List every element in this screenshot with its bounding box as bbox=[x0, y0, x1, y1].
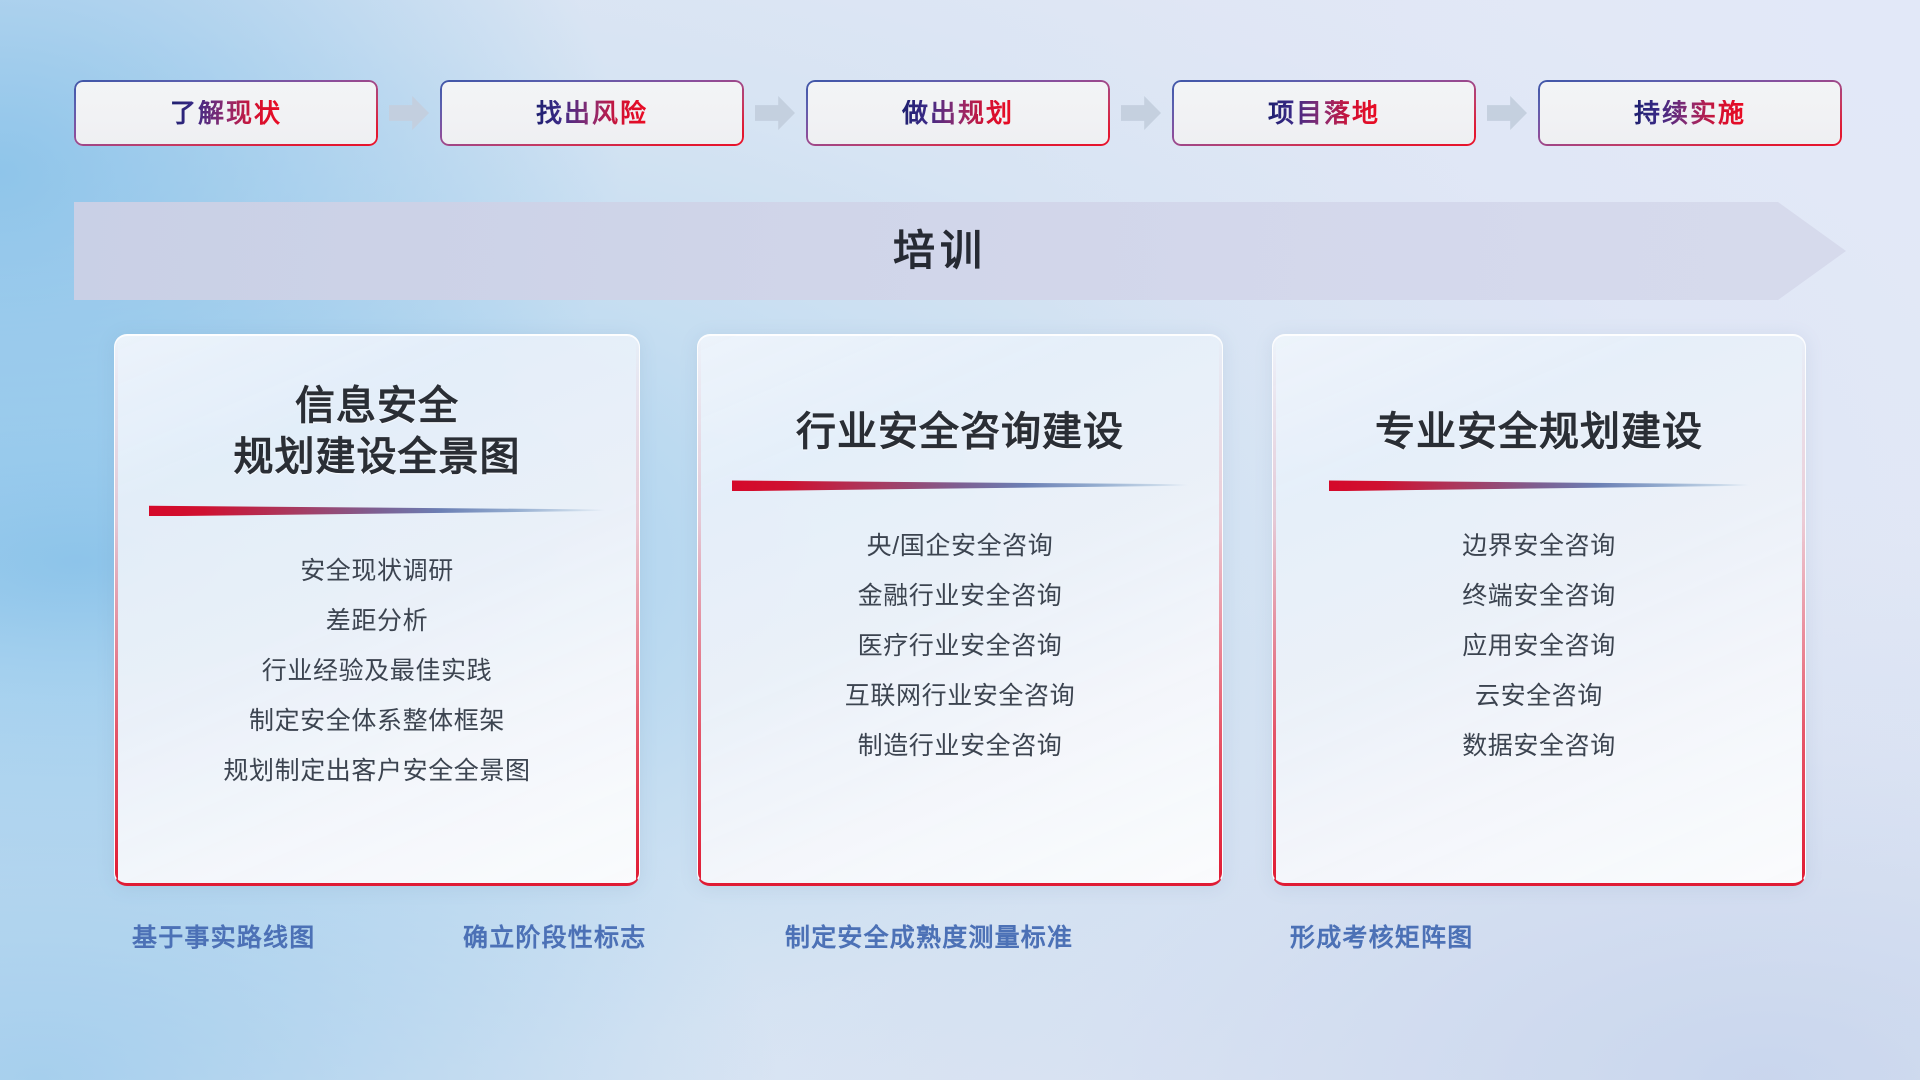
step-wrapper-1: 找出风险 bbox=[440, 80, 744, 146]
card-industry-security-consulting[interactable]: 行业安全咨询建设 央/国企安全咨询 金融行业安全咨询 医疗行业安全咨询 互联网行… bbox=[697, 334, 1223, 886]
step-box-understand-status[interactable]: 了解现状 bbox=[74, 80, 378, 146]
list-item: 边界安全咨询 bbox=[1462, 521, 1616, 571]
card-inner: 专业安全规划建设 边界安全咨询 终端安全咨询 应用安全咨询 云安全咨询 数据安全… bbox=[1273, 335, 1805, 883]
footer-label-row: 基于事实路线图 确立阶段性标志 制定安全成熟度测量标准 形成考核矩阵图 bbox=[0, 918, 1920, 978]
list-item: 终端安全咨询 bbox=[1462, 571, 1616, 621]
step-wrapper-4: 持续实施 bbox=[1538, 80, 1842, 146]
card-title: 专业安全规划建设 bbox=[1375, 407, 1703, 458]
card-info-security-panorama[interactable]: 信息安全 规划建设全景图 安全现状调研 差距分析 行业经验及最佳实践 制定安全体… bbox=[114, 334, 640, 886]
card-inner: 信息安全 规划建设全景图 安全现状调研 差距分析 行业经验及最佳实践 制定安全体… bbox=[115, 335, 639, 883]
list-item: 应用安全咨询 bbox=[1462, 621, 1616, 671]
list-item: 医疗行业安全咨询 bbox=[858, 621, 1063, 671]
step-wrapper-0: 了解现状 bbox=[74, 80, 378, 146]
step-box-make-plan[interactable]: 做出规划 bbox=[806, 80, 1110, 146]
footer-label-maturity-standard: 制定安全成熟度测量标准 bbox=[785, 918, 1073, 958]
list-item: 差距分析 bbox=[326, 596, 428, 646]
training-banner-arrow: 培训 bbox=[74, 202, 1846, 300]
card-item-list: 安全现状调研 差距分析 行业经验及最佳实践 制定安全体系整体框架 规划制定出客户… bbox=[223, 546, 530, 796]
footer-label-milestone: 确立阶段性标志 bbox=[463, 918, 646, 958]
card-title: 信息安全 规划建设全景图 bbox=[234, 381, 521, 483]
list-item: 金融行业安全咨询 bbox=[858, 571, 1063, 621]
footer-label-roadmap: 基于事实路线图 bbox=[132, 918, 315, 958]
list-item: 制定安全体系整体框架 bbox=[249, 696, 505, 746]
step-box-continuous-implementation[interactable]: 持续实施 bbox=[1538, 80, 1842, 146]
card-title: 行业安全咨询建设 bbox=[796, 407, 1124, 458]
card-title-line: 行业安全咨询建设 bbox=[796, 407, 1124, 458]
step-label: 找出风险 bbox=[536, 100, 648, 126]
card-title-line: 信息安全 bbox=[234, 381, 521, 432]
banner-title: 培训 bbox=[893, 230, 987, 272]
step-label: 了解现状 bbox=[170, 100, 282, 126]
list-item: 规划制定出客户安全全景图 bbox=[223, 746, 530, 796]
card-inner: 行业安全咨询建设 央/国企安全咨询 金融行业安全咨询 医疗行业安全咨询 互联网行… bbox=[698, 335, 1222, 883]
card-accent-divider bbox=[149, 503, 605, 516]
step-box-project-landing[interactable]: 项目落地 bbox=[1172, 80, 1476, 146]
process-step-row: 了解现状 找出风险 做出规划 项目落地 持续实施 bbox=[74, 78, 1846, 148]
card-row: 信息安全 规划建设全景图 安全现状调研 差距分析 行业经验及最佳实践 制定安全体… bbox=[0, 334, 1920, 886]
list-item: 云安全咨询 bbox=[1475, 671, 1603, 721]
list-item: 数据安全咨询 bbox=[1462, 721, 1616, 771]
card-item-list: 边界安全咨询 终端安全咨询 应用安全咨询 云安全咨询 数据安全咨询 bbox=[1462, 521, 1616, 771]
footer-label-assessment-matrix: 形成考核矩阵图 bbox=[1290, 918, 1473, 958]
step-box-find-risk[interactable]: 找出风险 bbox=[440, 80, 744, 146]
list-item: 央/国企安全咨询 bbox=[867, 521, 1054, 571]
chevron-right-block-icon bbox=[1121, 96, 1161, 130]
step-wrapper-3: 项目落地 bbox=[1172, 80, 1476, 146]
list-item: 制造行业安全咨询 bbox=[858, 721, 1063, 771]
chevron-right-block-icon bbox=[1487, 96, 1527, 130]
step-label: 持续实施 bbox=[1634, 100, 1746, 126]
card-title-line: 专业安全规划建设 bbox=[1375, 407, 1703, 458]
card-accent-divider bbox=[1329, 478, 1749, 491]
card-accent-divider bbox=[732, 478, 1188, 491]
accent-bar bbox=[149, 503, 605, 516]
accent-bar bbox=[732, 478, 1188, 491]
accent-bar bbox=[1329, 478, 1749, 491]
card-professional-security-planning[interactable]: 专业安全规划建设 边界安全咨询 终端安全咨询 应用安全咨询 云安全咨询 数据安全… bbox=[1272, 334, 1806, 886]
step-label: 项目落地 bbox=[1268, 100, 1380, 126]
list-item: 互联网行业安全咨询 bbox=[845, 671, 1075, 721]
list-item: 行业经验及最佳实践 bbox=[262, 646, 492, 696]
chevron-right-block-icon bbox=[389, 96, 429, 130]
list-item: 安全现状调研 bbox=[300, 546, 454, 596]
chevron-right-block-icon bbox=[755, 96, 795, 130]
step-label: 做出规划 bbox=[902, 100, 1014, 126]
card-item-list: 央/国企安全咨询 金融行业安全咨询 医疗行业安全咨询 互联网行业安全咨询 制造行… bbox=[845, 521, 1075, 771]
step-wrapper-2: 做出规划 bbox=[806, 80, 1110, 146]
card-title-line: 规划建设全景图 bbox=[234, 432, 521, 483]
